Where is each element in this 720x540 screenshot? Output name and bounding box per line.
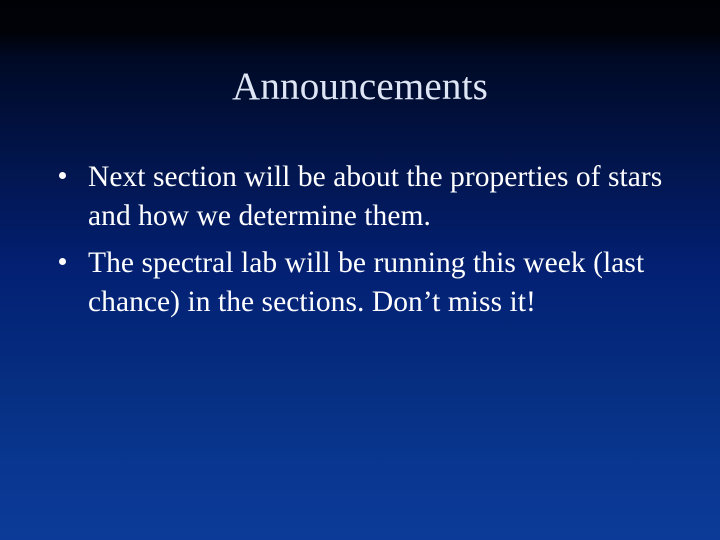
slide-title: Announcements	[0, 64, 720, 110]
round-bullet-icon	[59, 172, 66, 179]
list-item-text: Next section will be about the propertie…	[88, 158, 672, 236]
list-item-text: The spectral lab will be running this we…	[88, 244, 672, 322]
list-item: The spectral lab will be running this we…	[52, 244, 672, 322]
bullet-list: Next section will be about the propertie…	[52, 158, 672, 322]
list-item: Next section will be about the propertie…	[52, 158, 672, 236]
round-bullet-icon	[59, 258, 66, 265]
presentation-slide: Announcements Next section will be about…	[0, 0, 720, 540]
